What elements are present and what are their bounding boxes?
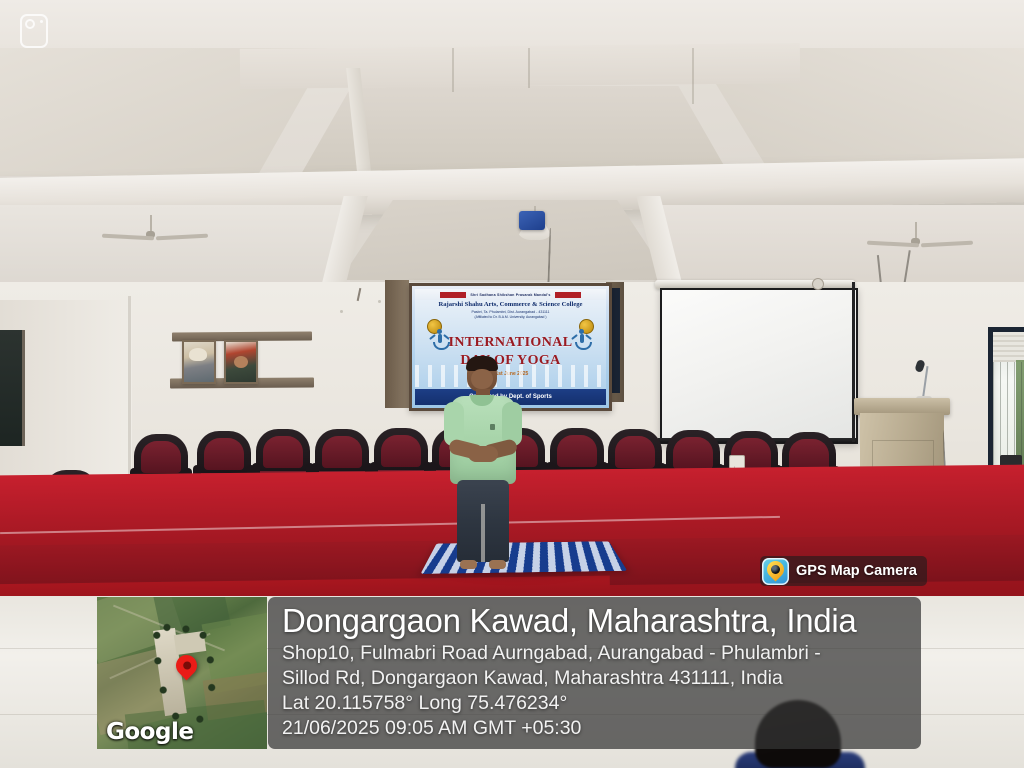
coordinates: Lat 20.115758° Long 75.476234° bbox=[282, 691, 921, 716]
gps-map-camera-icon bbox=[762, 558, 789, 585]
ceiling bbox=[0, 0, 1024, 300]
cctv-camera-icon bbox=[519, 211, 545, 230]
framed-portrait bbox=[182, 340, 216, 384]
map-thumbnail[interactable]: Google bbox=[97, 597, 267, 749]
gps-map-camera-label: GPS Map Camera bbox=[796, 563, 917, 579]
window-blind bbox=[993, 332, 1024, 362]
person-standing bbox=[444, 358, 522, 572]
banner-top-text: Shri Sadhana Shikshan Prasarak Mandal's bbox=[470, 293, 550, 297]
banner-title-line-1: INTERNATIONAL bbox=[415, 335, 606, 351]
projector-screen-hook bbox=[812, 278, 824, 290]
address-line-1: Shop10, Fulmabri Road Aurngabad, Auranga… bbox=[282, 641, 921, 666]
banner-red-block bbox=[555, 292, 581, 298]
ceiling-crack bbox=[692, 48, 694, 104]
google-watermark: Google bbox=[106, 719, 193, 745]
location-title: Dongargaon Kawad, Maharashtra, India bbox=[282, 601, 921, 641]
ceiling-crack bbox=[528, 48, 530, 88]
banner-frame-left bbox=[385, 280, 409, 408]
camera-icon bbox=[20, 14, 48, 48]
wall-mark bbox=[378, 300, 381, 303]
banner-red-block bbox=[440, 292, 466, 298]
location-info-panel: Dongargaon Kawad, Maharashtra, India Sho… bbox=[268, 597, 921, 749]
ceiling-lower-left bbox=[0, 205, 350, 285]
wall-mark bbox=[340, 310, 343, 313]
ceiling-lower-center bbox=[340, 200, 670, 280]
notice-board bbox=[0, 330, 25, 446]
ceiling-crack bbox=[452, 48, 454, 92]
banner-subline-1: Pasbri, Ta. Phulambri, Dist. Aurangabad … bbox=[415, 310, 606, 314]
projector-screen-edge bbox=[852, 282, 855, 442]
projector-screen bbox=[660, 288, 858, 444]
face bbox=[471, 369, 493, 389]
framed-portrait bbox=[224, 340, 258, 384]
screenshot-root: Shri Sadhana Shikshan Prasarak Mandal's … bbox=[0, 0, 1024, 768]
ceiling-beam-upper bbox=[240, 43, 800, 89]
banner-college-name: Rajarshi Shahu Arts, Commerce & Science … bbox=[415, 301, 606, 308]
banner-subline-2: (Affiliated to Dr. B.A.M. University, Au… bbox=[415, 315, 606, 319]
address-line-2: Sillod Rd, Dongargaon Kawad, Maharashtra… bbox=[282, 666, 921, 691]
gps-map-camera-badge[interactable]: GPS Map Camera bbox=[760, 556, 927, 586]
timestamp: 21/06/2025 09:05 AM GMT +05:30 bbox=[282, 716, 921, 741]
ceiling-lower-right bbox=[660, 205, 1024, 285]
banner-top-bar: Shri Sadhana Shikshan Prasarak Mandal's bbox=[415, 289, 606, 300]
